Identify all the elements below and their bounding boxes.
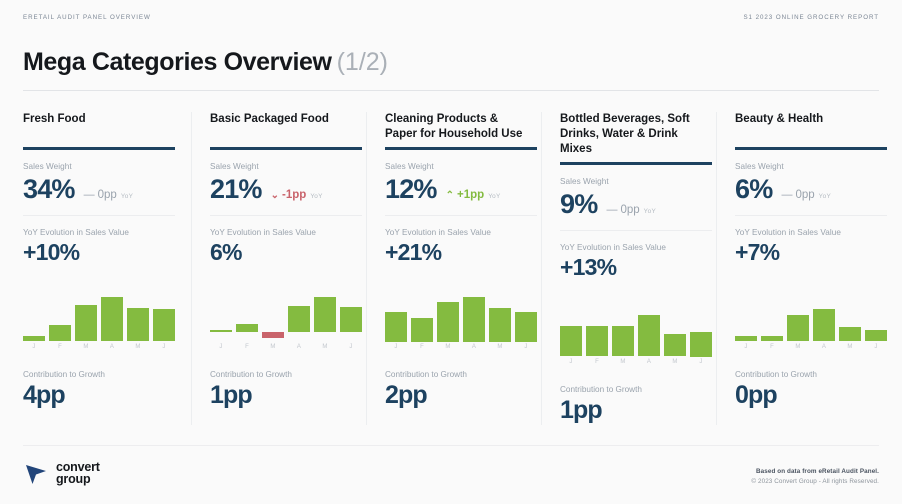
- contribution-label: Contribution to Growth: [23, 370, 175, 379]
- chart-bars: [560, 307, 712, 357]
- category-column: Cleaning Products & Paper for Household …: [366, 112, 541, 425]
- axis-tick-label: F: [586, 359, 608, 365]
- delta-value: +1pp: [457, 189, 484, 201]
- section-divider: [560, 230, 712, 231]
- category-column: Bottled Beverages, Soft Drinks, Water & …: [541, 112, 716, 425]
- delta-unit-label: YoY: [819, 193, 831, 200]
- category-title: Fresh Food: [23, 112, 175, 142]
- chart-bar: [101, 297, 123, 341]
- yoy-evolution-label: YoY Evolution in Sales Value: [385, 228, 525, 237]
- footer-divider: [23, 445, 879, 446]
- sales-weight-value: 12%: [385, 173, 437, 205]
- contribution-label: Contribution to Growth: [560, 385, 700, 394]
- contribution-label: Contribution to Growth: [385, 370, 525, 379]
- monthly-sparkline-chart: JFMAMJ: [560, 307, 712, 369]
- axis-tick-label: A: [288, 344, 310, 350]
- yoy-evolution-value: +21%: [385, 238, 525, 266]
- bar-slot: [101, 292, 123, 342]
- flat-dash-icon: —: [84, 190, 95, 200]
- chart-bar: [411, 318, 433, 342]
- axis-tick-label: J: [560, 359, 582, 365]
- delta-value: 0pp: [98, 189, 117, 201]
- bar-slot: [49, 292, 71, 342]
- axis-tick-label: A: [813, 344, 835, 350]
- sales-weight-value: 34%: [23, 173, 75, 205]
- chart-bar: [127, 308, 149, 342]
- chart-bar: [612, 326, 634, 357]
- section-divider: [385, 215, 537, 216]
- contribution-value: 1pp: [210, 380, 350, 410]
- sales-weight-delta: ⌄-1ppYoY: [271, 189, 323, 201]
- contribution-label: Contribution to Growth: [210, 370, 350, 379]
- axis-tick-label: J: [23, 344, 45, 350]
- yoy-evolution-label: YoY Evolution in Sales Value: [560, 243, 700, 252]
- sales-weight-value: 9%: [560, 188, 597, 220]
- bar-slot: [489, 292, 511, 342]
- monthly-sparkline-chart: JFMAMJ: [735, 292, 887, 354]
- axis-tick-label: M: [262, 344, 284, 350]
- chart-axis-labels: JFMAMJ: [560, 359, 712, 365]
- footer-source-note: Based on data from eRetail Audit Panel.: [751, 468, 879, 475]
- page-title-main: Mega Categories Overview: [23, 48, 332, 76]
- category-title: Basic Packaged Food: [210, 112, 350, 142]
- chart-axis-labels: JFMAMJ: [385, 344, 537, 350]
- axis-tick-label: A: [101, 344, 123, 350]
- chart-bar: [664, 334, 686, 356]
- footer-attribution: Based on data from eRetail Audit Panel. …: [751, 468, 879, 485]
- document-eyebrow-bar: ERETAIL AUDIT PANEL OVERVIEW S1 2023 ONL…: [23, 14, 879, 21]
- bar-slot: [761, 292, 783, 342]
- chart-bar: [75, 305, 97, 342]
- bar-slot: [288, 292, 310, 342]
- sales-weight-label: Sales Weight: [210, 162, 350, 171]
- chart-bar: [515, 312, 537, 342]
- flat-dash-icon: —: [606, 205, 617, 215]
- axis-tick-label: M: [612, 359, 634, 365]
- chart-bar: [463, 297, 485, 342]
- axis-tick-label: M: [127, 344, 149, 350]
- axis-tick-label: M: [787, 344, 809, 350]
- contribution-value: 2pp: [385, 380, 525, 410]
- sales-weight-label: Sales Weight: [735, 162, 875, 171]
- category-column: Beauty & HealthSales Weight6%—0ppYoYYoY …: [716, 112, 891, 425]
- convert-group-logo: convert group: [23, 460, 100, 486]
- axis-tick-label: J: [515, 344, 537, 350]
- category-title: Cleaning Products & Paper for Household …: [385, 112, 525, 142]
- axis-tick-label: M: [75, 344, 97, 350]
- mega-categories-grid: Fresh FoodSales Weight34%—0ppYoYYoY Evol…: [23, 112, 879, 425]
- axis-tick-label: F: [49, 344, 71, 350]
- bar-slot: [813, 292, 835, 342]
- chart-bar: [761, 336, 783, 342]
- bar-slot: [437, 292, 459, 342]
- chart-bar: [489, 308, 511, 342]
- sales-weight-row: 12%⌃+1ppYoY: [385, 173, 525, 205]
- bar-slot: [612, 307, 634, 357]
- axis-tick-label: M: [437, 344, 459, 350]
- axis-tick-label: F: [761, 344, 783, 350]
- chart-axis-labels: JFMAMJ: [735, 344, 887, 350]
- chart-bar: [813, 309, 835, 341]
- sales-weight-label: Sales Weight: [23, 162, 175, 171]
- monthly-sparkline-chart: JFMAMJ: [385, 292, 537, 354]
- chart-bar: [690, 332, 712, 357]
- bar-slot: [787, 292, 809, 342]
- category-underline: [23, 147, 175, 150]
- chart-bars: [23, 292, 175, 342]
- category-column: Fresh FoodSales Weight34%—0ppYoYYoY Evol…: [23, 112, 191, 425]
- chart-axis-labels: JFMAMJ: [210, 344, 362, 350]
- chart-bar: [735, 336, 757, 342]
- delta-value: 0pp: [795, 189, 814, 201]
- sales-weight-value: 6%: [735, 173, 772, 205]
- sales-weight-delta: —0ppYoY: [606, 204, 656, 216]
- axis-tick-label: F: [411, 344, 433, 350]
- bar-slot: [664, 307, 686, 357]
- delta-unit-label: YoY: [488, 193, 500, 200]
- bar-slot: [23, 292, 45, 342]
- axis-tick-label: A: [463, 344, 485, 350]
- axis-tick-label: J: [865, 344, 887, 350]
- category-underline: [210, 147, 362, 150]
- bar-slot: [236, 292, 258, 342]
- bar-slot: [127, 292, 149, 342]
- chart-bar: [865, 330, 887, 342]
- chart-bar: [236, 324, 258, 332]
- chart-bar: [437, 302, 459, 342]
- axis-tick-label: A: [638, 359, 660, 365]
- bar-slot: [735, 292, 757, 342]
- chart-bar: [385, 312, 407, 342]
- chart-bar: [340, 307, 362, 332]
- axis-tick-label: M: [664, 359, 686, 365]
- delta-value: -1pp: [282, 189, 306, 201]
- chart-axis-labels: JFMAMJ: [23, 344, 175, 350]
- contribution-value: 0pp: [735, 380, 875, 410]
- chart-bar: [210, 330, 232, 332]
- yoy-evolution-value: +13%: [560, 253, 700, 281]
- chart-bar: [23, 336, 45, 342]
- axis-tick-label: J: [735, 344, 757, 350]
- chart-bar: [288, 306, 310, 332]
- footer-copyright: © 2023 Convert Group - All rights Reserv…: [751, 478, 879, 485]
- axis-tick-label: M: [489, 344, 511, 350]
- sales-weight-delta: —0ppYoY: [781, 189, 831, 201]
- sales-weight-row: 6%—0ppYoY: [735, 173, 875, 205]
- eyebrow-right-label: S1 2023 ONLINE GROCERY REPORT: [743, 14, 879, 21]
- bar-slot: [560, 307, 582, 357]
- monthly-sparkline-chart: JFMAMJ: [23, 292, 175, 354]
- sales-weight-row: 34%—0ppYoY: [23, 173, 175, 205]
- yoy-evolution-label: YoY Evolution in Sales Value: [735, 228, 875, 237]
- yoy-evolution-value: 6%: [210, 238, 350, 266]
- sales-weight-row: 9%—0ppYoY: [560, 188, 700, 220]
- delta-unit-label: YoY: [644, 208, 656, 215]
- section-divider: [23, 215, 175, 216]
- chart-bar: [49, 325, 71, 341]
- sales-weight-delta: —0ppYoY: [84, 189, 134, 201]
- chart-bar: [638, 315, 660, 356]
- yoy-evolution-value: +10%: [23, 238, 175, 266]
- delta-value: 0pp: [620, 204, 639, 216]
- section-divider: [210, 215, 362, 216]
- axis-tick-label: M: [314, 344, 336, 350]
- arrow-down-icon: ⌄: [271, 191, 279, 201]
- yoy-evolution-label: YoY Evolution in Sales Value: [23, 228, 175, 237]
- chart-bar: [153, 309, 175, 341]
- chart-bar: [314, 297, 336, 332]
- delta-unit-label: YoY: [310, 193, 322, 200]
- category-underline: [560, 162, 712, 165]
- delta-unit-label: YoY: [121, 193, 133, 200]
- chart-bar: [560, 326, 582, 357]
- chart-bars: [385, 292, 537, 342]
- bar-slot: [385, 292, 407, 342]
- category-underline: [735, 147, 887, 150]
- chart-bar: [262, 332, 284, 338]
- arrow-up-icon: ⌃: [446, 191, 454, 201]
- sales-weight-row: 21%⌄-1ppYoY: [210, 173, 350, 205]
- contribution-value: 1pp: [560, 395, 700, 425]
- yoy-evolution-label: YoY Evolution in Sales Value: [210, 228, 350, 237]
- bar-slot: [586, 307, 608, 357]
- cursor-arrow-icon: [23, 460, 49, 486]
- axis-tick-label: F: [236, 344, 258, 350]
- logo-wordmark: convert group: [56, 461, 100, 486]
- bar-slot: [690, 307, 712, 357]
- sales-weight-label: Sales Weight: [560, 177, 700, 186]
- page-title-pagination: (1/2): [337, 48, 388, 76]
- bar-slot: [463, 292, 485, 342]
- contribution-value: 4pp: [23, 380, 175, 410]
- axis-tick-label: J: [210, 344, 232, 350]
- sales-weight-value: 21%: [210, 173, 262, 205]
- chart-bar: [787, 315, 809, 341]
- section-divider: [735, 215, 887, 216]
- page-title: Mega Categories Overview(1/2): [23, 48, 388, 77]
- bar-slot: [153, 292, 175, 342]
- yoy-evolution-value: +7%: [735, 238, 875, 266]
- eyebrow-left-label: ERETAIL AUDIT PANEL OVERVIEW: [23, 14, 151, 21]
- bar-slot: [210, 292, 232, 342]
- sales-weight-label: Sales Weight: [385, 162, 525, 171]
- monthly-sparkline-chart: JFMAMJ: [210, 292, 362, 354]
- category-underline: [385, 147, 537, 150]
- bar-slot: [638, 307, 660, 357]
- bar-slot: [340, 292, 362, 342]
- chart-bars: [735, 292, 887, 342]
- axis-tick-label: J: [340, 344, 362, 350]
- flat-dash-icon: —: [781, 190, 792, 200]
- axis-tick-label: J: [690, 359, 712, 365]
- bar-slot: [839, 292, 861, 342]
- logo-line-2: group: [56, 473, 100, 486]
- category-title: Beauty & Health: [735, 112, 875, 142]
- bar-slot: [865, 292, 887, 342]
- sales-weight-delta: ⌃+1ppYoY: [446, 189, 501, 201]
- bar-slot: [515, 292, 537, 342]
- category-column: Basic Packaged FoodSales Weight21%⌄-1ppY…: [191, 112, 366, 425]
- bar-slot: [314, 292, 336, 342]
- axis-tick-label: M: [839, 344, 861, 350]
- chart-bars: [210, 292, 362, 342]
- axis-tick-label: J: [153, 344, 175, 350]
- bar-slot: [75, 292, 97, 342]
- title-divider: [23, 90, 879, 91]
- contribution-label: Contribution to Growth: [735, 370, 875, 379]
- chart-bar: [586, 326, 608, 357]
- axis-tick-label: J: [385, 344, 407, 350]
- bar-slot: [262, 292, 284, 342]
- category-title: Bottled Beverages, Soft Drinks, Water & …: [560, 112, 700, 157]
- chart-bar: [839, 327, 861, 342]
- bar-slot: [411, 292, 433, 342]
